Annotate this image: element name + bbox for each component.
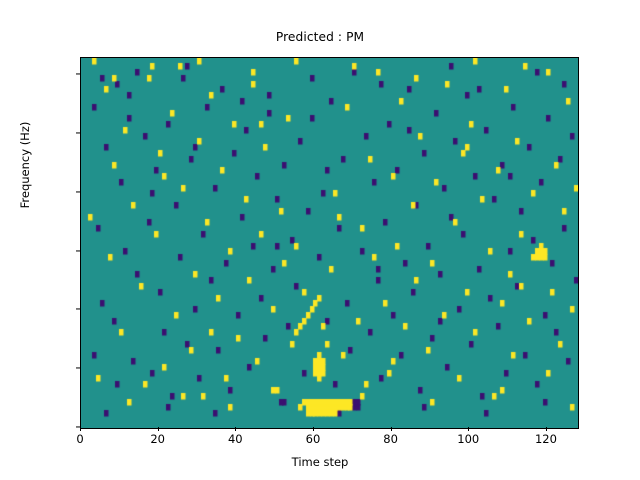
x-tick-mark <box>158 427 159 431</box>
x-axis-label: Time step <box>0 455 640 469</box>
x-tick-label: 0 <box>40 432 120 446</box>
y-tick-mark <box>76 74 80 75</box>
heatmap-axes <box>80 57 579 429</box>
x-tick-mark <box>313 427 314 431</box>
x-tick-label: 100 <box>428 432 508 446</box>
page-title: Predicted : PM <box>0 30 640 44</box>
y-tick-mark <box>76 191 80 192</box>
y-tick-mark <box>76 132 80 133</box>
x-tick-mark <box>468 427 469 431</box>
x-tick-label: 20 <box>118 432 198 446</box>
x-tick-label: 60 <box>273 432 353 446</box>
x-tick-label: 40 <box>195 432 275 446</box>
y-axis-label: Frequency (Hz) <box>18 85 32 245</box>
x-tick-mark <box>546 427 547 431</box>
x-tick-mark <box>80 427 81 431</box>
matplotlib-figure: Predicted : PM Frequency (Hz) Time step … <box>0 0 640 480</box>
y-tick-mark <box>76 250 80 251</box>
y-tick-mark <box>76 309 80 310</box>
x-tick-mark <box>391 427 392 431</box>
x-tick-label: 120 <box>506 432 586 446</box>
y-tick-mark <box>76 368 80 369</box>
heatmap-image <box>81 58 578 428</box>
x-tick-label: 80 <box>351 432 431 446</box>
x-tick-mark <box>235 427 236 431</box>
